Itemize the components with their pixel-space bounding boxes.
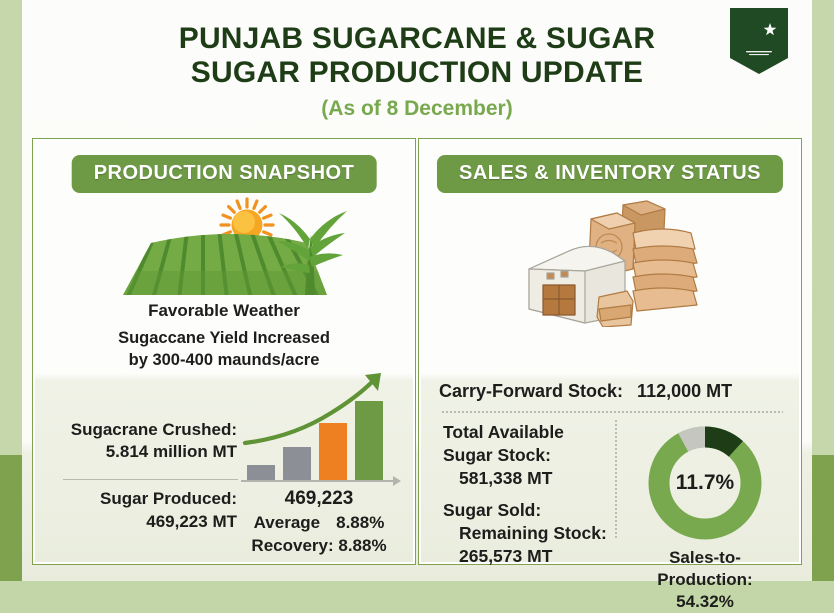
recovery-value: 8.88% (338, 536, 386, 555)
recovery-stats-block: 469,223 Average8.88% Recovery: 8.88% (229, 487, 409, 557)
yield-note-line-1: Sugaccane Yield Increased (33, 327, 415, 349)
carry-forward-label: Carry-Forward Stock: (439, 381, 623, 401)
vertical-dotted-divider (615, 419, 617, 538)
infographic-page: PUNJAB SUGARCANE & SUGAR SUGAR PRODUCTIO… (0, 0, 834, 581)
production-bar-chart (233, 367, 403, 492)
content-sheet: PUNJAB SUGARCANE & SUGAR SUGAR PRODUCTIO… (22, 0, 812, 581)
left-edge-band-lower (0, 455, 22, 581)
sugar-sold-label: Sugar Sold: (443, 499, 611, 522)
sun-over-field-with-sugarcane-icon (109, 195, 349, 305)
production-snapshot-panel: PRODUCTION SNAPSHOT (32, 138, 416, 565)
recovery-row: Recovery: 8.88% (229, 534, 409, 557)
donut-caption: Sales-to-Production: 54.32% (625, 547, 785, 613)
average-value: 8.88% (336, 513, 384, 532)
remaining-stock-label: Remaining Stock: (443, 522, 611, 545)
right-edge-band (812, 0, 834, 581)
title-block: PUNJAB SUGARCANE & SUGAR SUGAR PRODUCTIO… (22, 22, 812, 121)
production-snapshot-heading: PRODUCTION SNAPSHOT (72, 155, 377, 193)
carry-forward-row: Carry-Forward Stock:112,000 MT (439, 381, 787, 402)
right-edge-band-lower (812, 455, 834, 581)
total-stock-label-line-2: Sugar Stock: (443, 444, 611, 467)
average-label: Average (254, 513, 320, 532)
total-stock-value: 581,338 MT (443, 467, 611, 490)
chart-headline-value: 469,223 (229, 487, 409, 511)
left-edge-band (0, 0, 22, 581)
sugarcane-crushed-label: Sugacrane Crushed: (41, 419, 237, 441)
donut-chart: 11.7% (647, 425, 763, 541)
recovery-label: Recovery: (251, 536, 333, 555)
sugar-produced-value: 469,223 MT (41, 510, 237, 533)
sugar-produced-label: Sugar Produced: (41, 487, 237, 510)
sugarcane-crushed-block: Sugacrane Crushed: 5.814 million MT (41, 419, 237, 463)
donut-caption-line-1: Sales-to-Production: (625, 547, 785, 591)
yield-note: Sugaccane Yield Increased by 300-400 mau… (33, 327, 415, 371)
pakistan-flag-badge-icon (730, 8, 788, 74)
average-row: Average8.88% (229, 511, 409, 534)
page-title-line-1: PUNJAB SUGARCANE & SUGAR (22, 22, 812, 56)
page-subtitle: (As of 8 December) (22, 97, 812, 121)
horizontal-dotted-divider (441, 411, 783, 413)
header: PUNJAB SUGARCANE & SUGAR SUGAR PRODUCTIO… (22, 0, 812, 132)
total-stock-label-line-1: Total Available (443, 421, 611, 444)
weather-label: Favorable Weather (33, 301, 415, 321)
left-panel-divider (63, 479, 238, 480)
sales-inventory-panel: SALES & INVENTORY STATUS (418, 138, 802, 565)
carry-forward-value: 112,000 MT (637, 381, 732, 401)
page-title-line-2: SUGAR PRODUCTION UPDATE (22, 56, 812, 90)
sugar-produced-block: Sugar Produced: 469,223 MT (41, 487, 237, 533)
warehouse-with-sugar-sacks-icon (515, 197, 715, 327)
donut-caption-line-2: 54.32% (625, 591, 785, 613)
remaining-stock-value: 265,573 MT (443, 545, 611, 568)
sales-inventory-heading: SALES & INVENTORY STATUS (437, 155, 783, 193)
stock-figures-column: Total Available Sugar Stock: 581,338 MT … (443, 421, 611, 568)
sales-to-production-donut: 11.7% Sales-to-Production: 54.32% (625, 425, 785, 613)
donut-center-value: 11.7% (647, 425, 763, 541)
sugarcane-crushed-value: 5.814 million MT (41, 441, 237, 463)
